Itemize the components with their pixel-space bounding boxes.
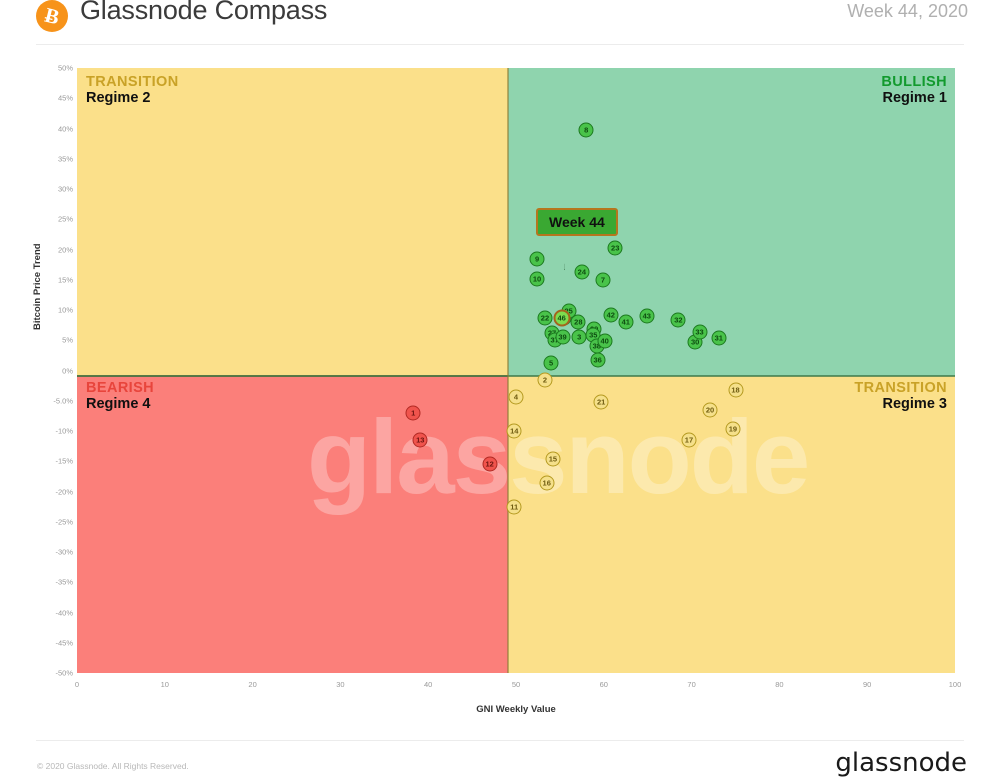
data-point-week-43[interactable]: 43 (639, 309, 654, 324)
data-point-week-22[interactable]: 22 (537, 311, 552, 326)
y-tick-label: 35% (47, 154, 73, 163)
y-tick-label: -45% (47, 638, 73, 647)
y-tick-label: -40% (47, 608, 73, 617)
y-tick-label: -5.0% (47, 396, 73, 405)
y-tick-label: -35% (47, 578, 73, 587)
page-header: Ƀ Glassnode Compass Week 44, 2020 (0, 0, 1000, 44)
quadrant-name-label: Regime 4 (86, 396, 154, 412)
data-point-week-12[interactable]: 12 (482, 456, 497, 471)
data-point-week-15[interactable]: 15 (545, 451, 560, 466)
data-point-week-1[interactable]: 1 (406, 405, 421, 420)
data-point-week-16[interactable]: 16 (539, 476, 554, 491)
data-point-week-8[interactable]: 8 (579, 122, 594, 137)
y-tick-label: 50% (47, 64, 73, 73)
quadrant-kind-label: TRANSITION (854, 380, 947, 396)
data-point-week-19[interactable]: 19 (725, 421, 740, 436)
data-point-week-3[interactable]: 3 (572, 329, 587, 344)
compass-scatter-chart: glassnode TRANSITION Regime 2 BULLISH Re… (77, 68, 955, 673)
x-tick-label: 40 (424, 680, 432, 689)
y-tick-label: -30% (47, 548, 73, 557)
copyright-text: © 2020 Glassnode. All Rights Reserved. (37, 761, 189, 771)
quadrant-divider-horizontal (77, 375, 955, 377)
period-label: Week 44, 2020 (847, 1, 968, 22)
x-tick-label: 90 (863, 680, 871, 689)
header-divider (36, 44, 964, 45)
data-point-week-23[interactable]: 23 (608, 241, 623, 256)
y-tick-label: -15% (47, 457, 73, 466)
quadrant-name-label: Regime 2 (86, 90, 179, 106)
brand-wordmark: glassnode (835, 748, 967, 778)
data-point-week-20[interactable]: 20 (703, 402, 718, 417)
quadrant-kind-label: BEARISH (86, 380, 154, 396)
quadrant-label-regime-3: TRANSITION Regime 3 (854, 380, 947, 412)
y-tick-label: 40% (47, 124, 73, 133)
data-point-week-41[interactable]: 41 (618, 315, 633, 330)
data-point-week-18[interactable]: 18 (728, 382, 743, 397)
data-point-week-11[interactable]: 11 (507, 500, 522, 515)
quadrant-name-label: Regime 3 (854, 396, 947, 412)
x-tick-label: 30 (336, 680, 344, 689)
data-point-week-24[interactable]: 24 (574, 264, 589, 279)
page-title: Glassnode Compass (80, 0, 327, 26)
data-point-week-4[interactable]: 4 (509, 390, 524, 405)
x-tick-label: 10 (161, 680, 169, 689)
data-point-week-33[interactable]: 33 (692, 324, 707, 339)
quadrant-label-regime-1: BULLISH Regime 1 (881, 74, 947, 106)
footer-divider (36, 740, 964, 741)
x-axis-title: GNI Weekly Value (77, 704, 955, 715)
data-point-week-10[interactable]: 10 (530, 271, 545, 286)
quadrant-kind-label: BULLISH (881, 74, 947, 90)
x-tick-label: 20 (248, 680, 256, 689)
bitcoin-glyph: Ƀ (43, 4, 62, 28)
data-point-week-32[interactable]: 32 (671, 313, 686, 328)
data-point-week-9[interactable]: 9 (530, 252, 545, 267)
data-point-week-42[interactable]: 42 (603, 307, 618, 322)
data-point-week-28[interactable]: 28 (571, 315, 586, 330)
x-tick-label: 0 (75, 680, 79, 689)
x-tick-label: 60 (600, 680, 608, 689)
data-point-week-21[interactable]: 21 (594, 394, 609, 409)
data-point-week-40[interactable]: 40 (597, 333, 612, 348)
data-point-week-2[interactable]: 2 (537, 373, 552, 388)
bitcoin-icon: Ƀ (36, 0, 68, 32)
quadrant-kind-label: TRANSITION (86, 74, 179, 90)
y-tick-label: 25% (47, 215, 73, 224)
y-tick-label: 10% (47, 306, 73, 315)
data-point-week-39[interactable]: 39 (555, 329, 570, 344)
y-tick-label: 0% (47, 366, 73, 375)
y-tick-label: -50% (47, 669, 73, 678)
quadrant-label-regime-4: BEARISH Regime 4 (86, 380, 154, 412)
y-tick-label: -25% (47, 517, 73, 526)
data-point-week-7[interactable]: 7 (595, 273, 610, 288)
quadrant-name-label: Regime 1 (881, 90, 947, 106)
quadrant-regime-2 (77, 68, 508, 376)
y-tick-label: 45% (47, 94, 73, 103)
y-axis-title: Bitcoin Price Trend (32, 243, 43, 330)
x-tick-label: 50 (512, 680, 520, 689)
y-tick-label: -10% (47, 427, 73, 436)
data-point-week-13[interactable]: 13 (413, 433, 428, 448)
x-tick-label: 100 (949, 680, 962, 689)
data-point-week-31[interactable]: 31 (711, 331, 726, 346)
data-point-week-14[interactable]: 14 (507, 424, 522, 439)
y-tick-label: 30% (47, 185, 73, 194)
y-tick-label: 15% (47, 275, 73, 284)
quadrant-label-regime-2: TRANSITION Regime 2 (86, 74, 179, 106)
data-point-week-46[interactable]: 46 (553, 309, 570, 326)
callout-arrow-icon (564, 235, 565, 299)
y-tick-label: 20% (47, 245, 73, 254)
y-tick-label: 5% (47, 336, 73, 345)
y-tick-label: -20% (47, 487, 73, 496)
data-point-week-36[interactable]: 36 (590, 352, 605, 367)
current-week-callout: Week 44 (536, 208, 618, 236)
x-tick-label: 80 (775, 680, 783, 689)
quadrant-divider-vertical (507, 68, 509, 673)
x-tick-label: 70 (687, 680, 695, 689)
data-point-week-17[interactable]: 17 (681, 433, 696, 448)
data-point-week-5[interactable]: 5 (544, 356, 559, 371)
quadrant-regime-4 (77, 376, 508, 673)
